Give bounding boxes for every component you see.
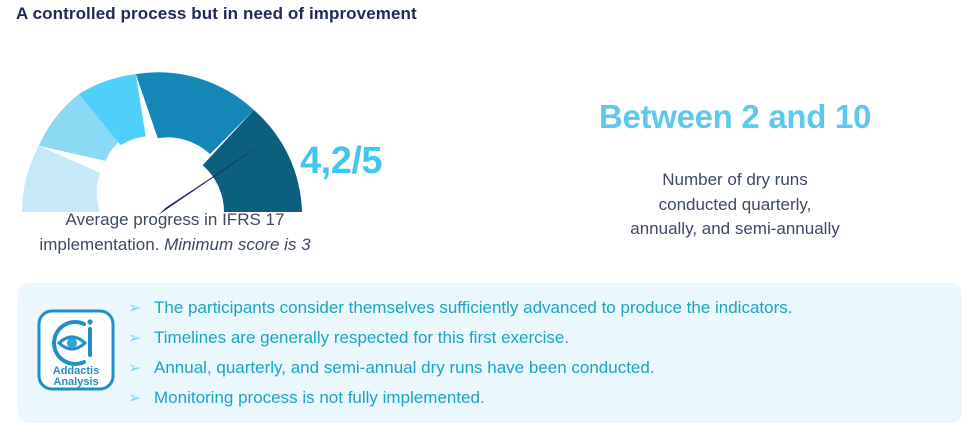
logo-stroke-dot-icon bbox=[87, 319, 92, 324]
logo-eye-pupil-icon bbox=[67, 338, 77, 348]
list-item-label: Annual, quarterly, and semi-annual dry r… bbox=[154, 353, 952, 383]
arrow-bullet-icon: ➢ bbox=[128, 324, 154, 354]
gauge-chart bbox=[12, 40, 312, 215]
gauge-caption-line-2-italic: Minimum score is 3 bbox=[164, 235, 310, 254]
count-kpi-block: Between 2 and 10 Number of dry runs cond… bbox=[540, 40, 930, 255]
arrow-bullet-icon: ➢ bbox=[128, 354, 154, 384]
page-title: A controlled process but in need of impr… bbox=[16, 4, 417, 24]
arrow-bullet-icon: ➢ bbox=[128, 384, 154, 414]
count-caption-line-1: Number of dry runs bbox=[662, 170, 808, 189]
list-item-label: Monitoring process is not fully implemen… bbox=[154, 383, 952, 413]
gauge-caption-line-2-plain: implementation. bbox=[39, 235, 164, 254]
list-item: ➢ The participants consider themselves s… bbox=[128, 293, 952, 323]
gauge-segments bbox=[22, 72, 302, 212]
gauge-caption-line-1: Average progress in IFRS 17 bbox=[66, 210, 285, 229]
list-item: ➢ Monitoring process is not fully implem… bbox=[128, 383, 952, 413]
analysis-bullet-list: ➢ The participants consider themselves s… bbox=[128, 293, 952, 413]
list-item: ➢ Annual, quarterly, and semi-annual dry… bbox=[128, 353, 952, 383]
count-caption-line-3: annually, and semi-annually bbox=[630, 219, 839, 238]
count-value-label: Between 2 and 10 bbox=[540, 98, 930, 136]
addactis-analysis-logo: Addactis Analysis bbox=[37, 309, 115, 391]
count-caption-line-2: conducted quarterly, bbox=[659, 195, 812, 214]
list-item-label: Timelines are generally respected for th… bbox=[154, 323, 952, 353]
list-item-label: The participants consider themselves suf… bbox=[154, 293, 952, 323]
logo-name-line-2: Analysis bbox=[53, 376, 98, 388]
arrow-bullet-icon: ➢ bbox=[128, 294, 154, 324]
analysis-panel: Addactis Analysis ➢ The participants con… bbox=[18, 283, 962, 423]
gauge-caption: Average progress in IFRS 17 implementati… bbox=[0, 208, 350, 257]
gauge-value-label: 4,2/5 bbox=[300, 140, 382, 183]
count-caption: Number of dry runs conducted quarterly, … bbox=[540, 168, 930, 242]
list-item: ➢ Timelines are generally respected for … bbox=[128, 323, 952, 353]
gauge-kpi-block: 4,2/5 Average progress in IFRS 17 implem… bbox=[0, 40, 440, 255]
